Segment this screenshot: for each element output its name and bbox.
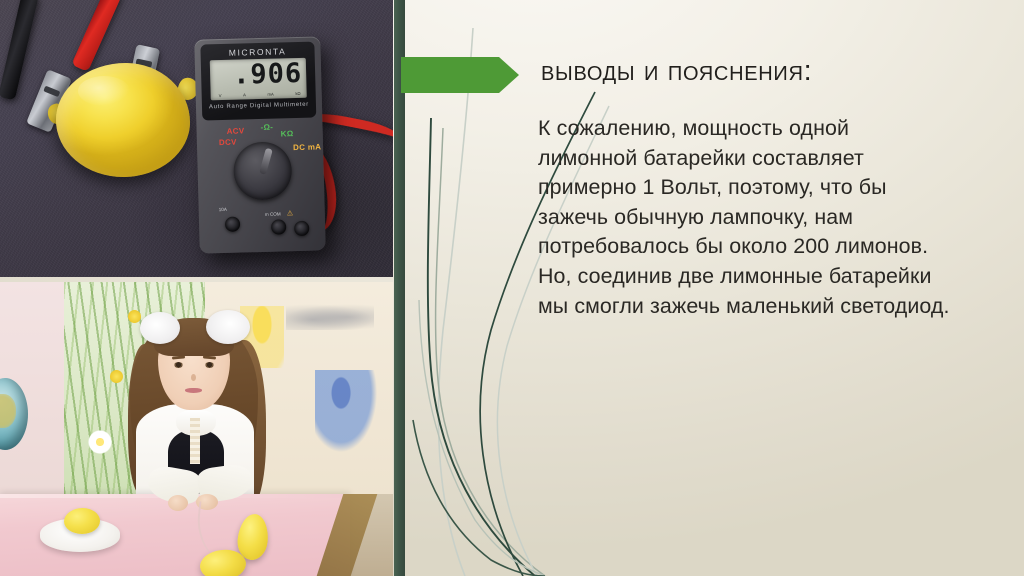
grass-blade-light-2	[436, 128, 545, 576]
meter-rotary-dial	[233, 141, 292, 200]
dial-label-dcv: DCV	[219, 138, 237, 147]
lemon-on-plate	[64, 508, 100, 534]
slide-title: Выводы и пояснения:	[541, 55, 1011, 88]
lcd-unit-a: A	[243, 92, 246, 97]
girl-nose	[191, 374, 196, 381]
meter-input-jack-v	[294, 221, 309, 236]
digital-multimeter: MICRONTA .906 V A mA kΩ Auto Range Digit…	[194, 36, 326, 253]
meter-brand-label: MICRONTA	[200, 46, 314, 59]
grass-blade-dark-1	[428, 118, 535, 576]
meter-lcd-screen: .906 V A mA kΩ	[210, 58, 307, 100]
grass-blade-light-4	[419, 300, 545, 576]
slide-body-text: К сожалению, мощность одной лимонной бат…	[538, 114, 950, 321]
girl-eye-right	[205, 362, 214, 368]
mural-cloud	[286, 304, 374, 330]
mural-flower-3	[110, 370, 123, 383]
girl-hand-left	[168, 495, 188, 511]
meter-faceplate: MICRONTA .906 V A mA kΩ Auto Range Digit…	[200, 42, 316, 121]
mural-daisy	[88, 430, 112, 454]
photo-girl-with-lemons	[0, 282, 393, 576]
lcd-unit-indicators: V A mA kΩ	[219, 91, 301, 98]
warning-triangle-icon: ⚠	[287, 209, 293, 217]
meter-subtitle-label: Auto Range Digital Multimeter	[202, 102, 316, 111]
girl-hair-bow-left	[140, 312, 180, 344]
lcd-unit-kohm: kΩ	[295, 91, 300, 96]
green-arrow-banner	[401, 57, 519, 93]
dial-label-ohm: -Ω-	[260, 123, 273, 132]
jack-label-com: m COM	[265, 211, 281, 216]
arrow-shape	[401, 57, 519, 93]
dial-label-kohm: KΩ	[281, 129, 294, 138]
photo-column: MICRONTA .906 V A mA kΩ Auto Range Digit…	[0, 0, 393, 576]
lcd-unit-ma: mA	[267, 92, 273, 97]
photo-lemon-multimeter: MICRONTA .906 V A mA kΩ Auto Range Digit…	[0, 0, 393, 277]
presentation-slide: MICRONTA .906 V A mA kΩ Auto Range Digit…	[0, 0, 1024, 576]
lcd-unit-v: V	[219, 93, 222, 98]
jack-label-fused: 10A	[219, 207, 227, 212]
mural-flower-1	[128, 310, 141, 323]
girl-mouth	[185, 388, 202, 393]
lcd-reading: .906	[210, 59, 303, 91]
meter-input-jack-a	[225, 217, 240, 232]
dial-label-acv: ACV	[227, 126, 245, 135]
dial-pointer	[259, 148, 273, 175]
girl-blouse-placket	[190, 418, 200, 464]
girl-hair-bow-right	[206, 310, 250, 344]
meter-input-jack-com	[271, 219, 286, 234]
girl-eye-left	[174, 362, 183, 368]
lemon-highlight	[78, 76, 130, 106]
mural-fairy-blue	[315, 370, 377, 452]
grass-blade-light-1	[438, 28, 473, 576]
dial-label-dcma: DC mA	[293, 142, 321, 152]
grass-blade-dark-3	[413, 420, 545, 576]
